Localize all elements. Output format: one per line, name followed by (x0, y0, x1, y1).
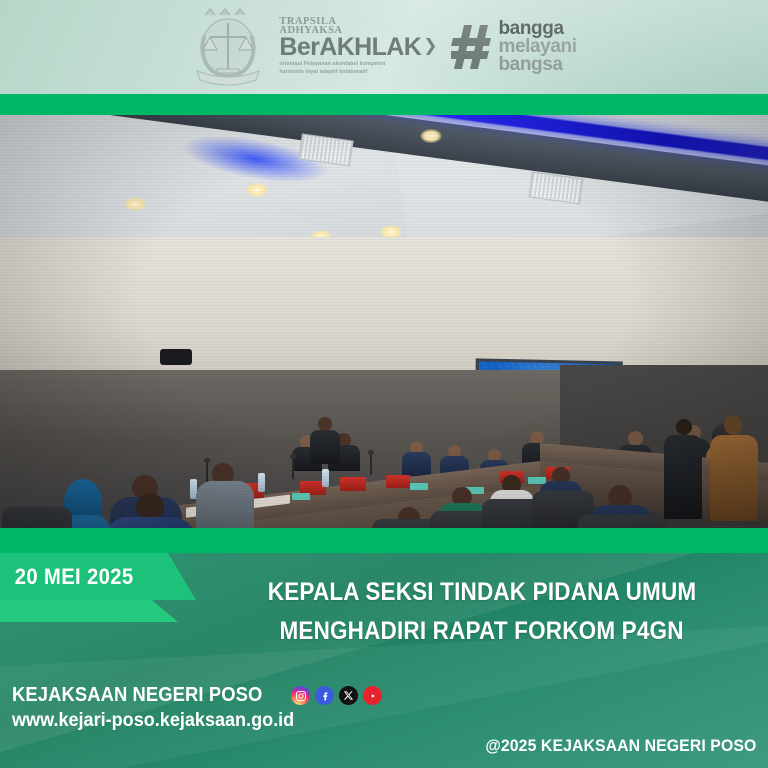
poster-footer: KEJAKSAAN NEGERI POSO (0, 668, 768, 768)
office-chair (578, 515, 666, 528)
youtube-icon[interactable] (363, 686, 382, 705)
hash-icon (451, 23, 493, 71)
berakhlak-logo: TRAPSILA ADHYAKSA BerAKHLAK ❯ orientasi … (279, 17, 437, 77)
top-green-divider (0, 94, 768, 115)
photographer-body (310, 430, 340, 464)
berakhlak-top-line1: TRAPSILA (279, 17, 336, 28)
snack-box (386, 475, 410, 488)
water-bottle (322, 469, 329, 487)
ceiling-projector (160, 349, 192, 365)
organization-row: KEJAKSAAN NEGERI POSO (12, 684, 382, 707)
social-icons (291, 686, 382, 705)
website-url[interactable]: www.kejari-poso.kejaksaan.go.id (12, 710, 364, 732)
event-photo (0, 115, 768, 528)
event-date: 20 MEI 2025 (0, 564, 134, 590)
facebook-icon[interactable] (315, 686, 334, 705)
attendee-head (628, 431, 643, 446)
berakhlak-top-line2: ADHYAKSA (279, 26, 342, 37)
standing-person-head (676, 419, 692, 435)
standing-person-body (710, 435, 758, 521)
headline-line-1: KEPALA SEKSI TINDAK PIDANA UMUM (268, 578, 697, 607)
name-card (292, 493, 310, 500)
social-media-poster: TRAPSILA ADHYAKSA BerAKHLAK ❯ orientasi … (0, 0, 768, 768)
x-twitter-icon[interactable] (339, 686, 358, 705)
photographer-head (318, 417, 332, 431)
kejaksaan-emblem-icon (191, 7, 265, 87)
organization-name: KEJAKSAAN NEGERI POSO (12, 684, 262, 707)
attendee-body (104, 517, 196, 528)
bangga-line2: melayani (498, 38, 576, 56)
poster-header: TRAPSILA ADHYAKSA BerAKHLAK ❯ orientasi … (0, 0, 768, 94)
ceiling-downlight (246, 183, 268, 197)
bangga-line3: bangsa (498, 56, 576, 74)
instagram-icon[interactable] (291, 686, 310, 705)
berakhlak-arrow-icon: ❯ (423, 37, 437, 54)
standing-person-body (664, 435, 702, 519)
bangga-line1: bangga (498, 20, 576, 38)
attendee-body (402, 452, 431, 476)
name-card (410, 483, 428, 490)
berakhlak-values-line2: harmonis loyal adaptif kolaboratif (279, 69, 367, 77)
bangga-melayani-bangsa-logo: bangga melayani bangsa (451, 20, 576, 75)
date-ribbon-shadow (0, 600, 178, 622)
berakhlak-values-line1: orientasi Pelayanan akuntabel kompeten (279, 61, 385, 69)
footer-left-block: KEJAKSAAN NEGERI POSO (12, 684, 382, 732)
water-bottle (258, 473, 265, 492)
snack-box (340, 477, 366, 491)
headline-line-2: MENGHADIRI RAPAT FORKOM P4GN (280, 617, 684, 646)
ceiling-downlight (124, 197, 146, 211)
bottom-green-divider (0, 528, 768, 553)
berakhlak-wordmark: BerAKHLAK (279, 36, 421, 60)
office-chair (2, 507, 72, 528)
ceiling-downlight (420, 129, 442, 143)
headline-block: KEPALA SEKSI TINDAK PIDANA UMUM MENGHADI… (196, 578, 768, 646)
table-microphone (292, 457, 294, 479)
date-ribbon: 20 MEI 2025 (0, 553, 196, 600)
copyright-text: @2025 KEJAKSAAN NEGERI POSO (485, 736, 756, 756)
table-microphone (370, 453, 372, 475)
attendee-body (196, 481, 254, 528)
standing-person-head (724, 415, 742, 435)
